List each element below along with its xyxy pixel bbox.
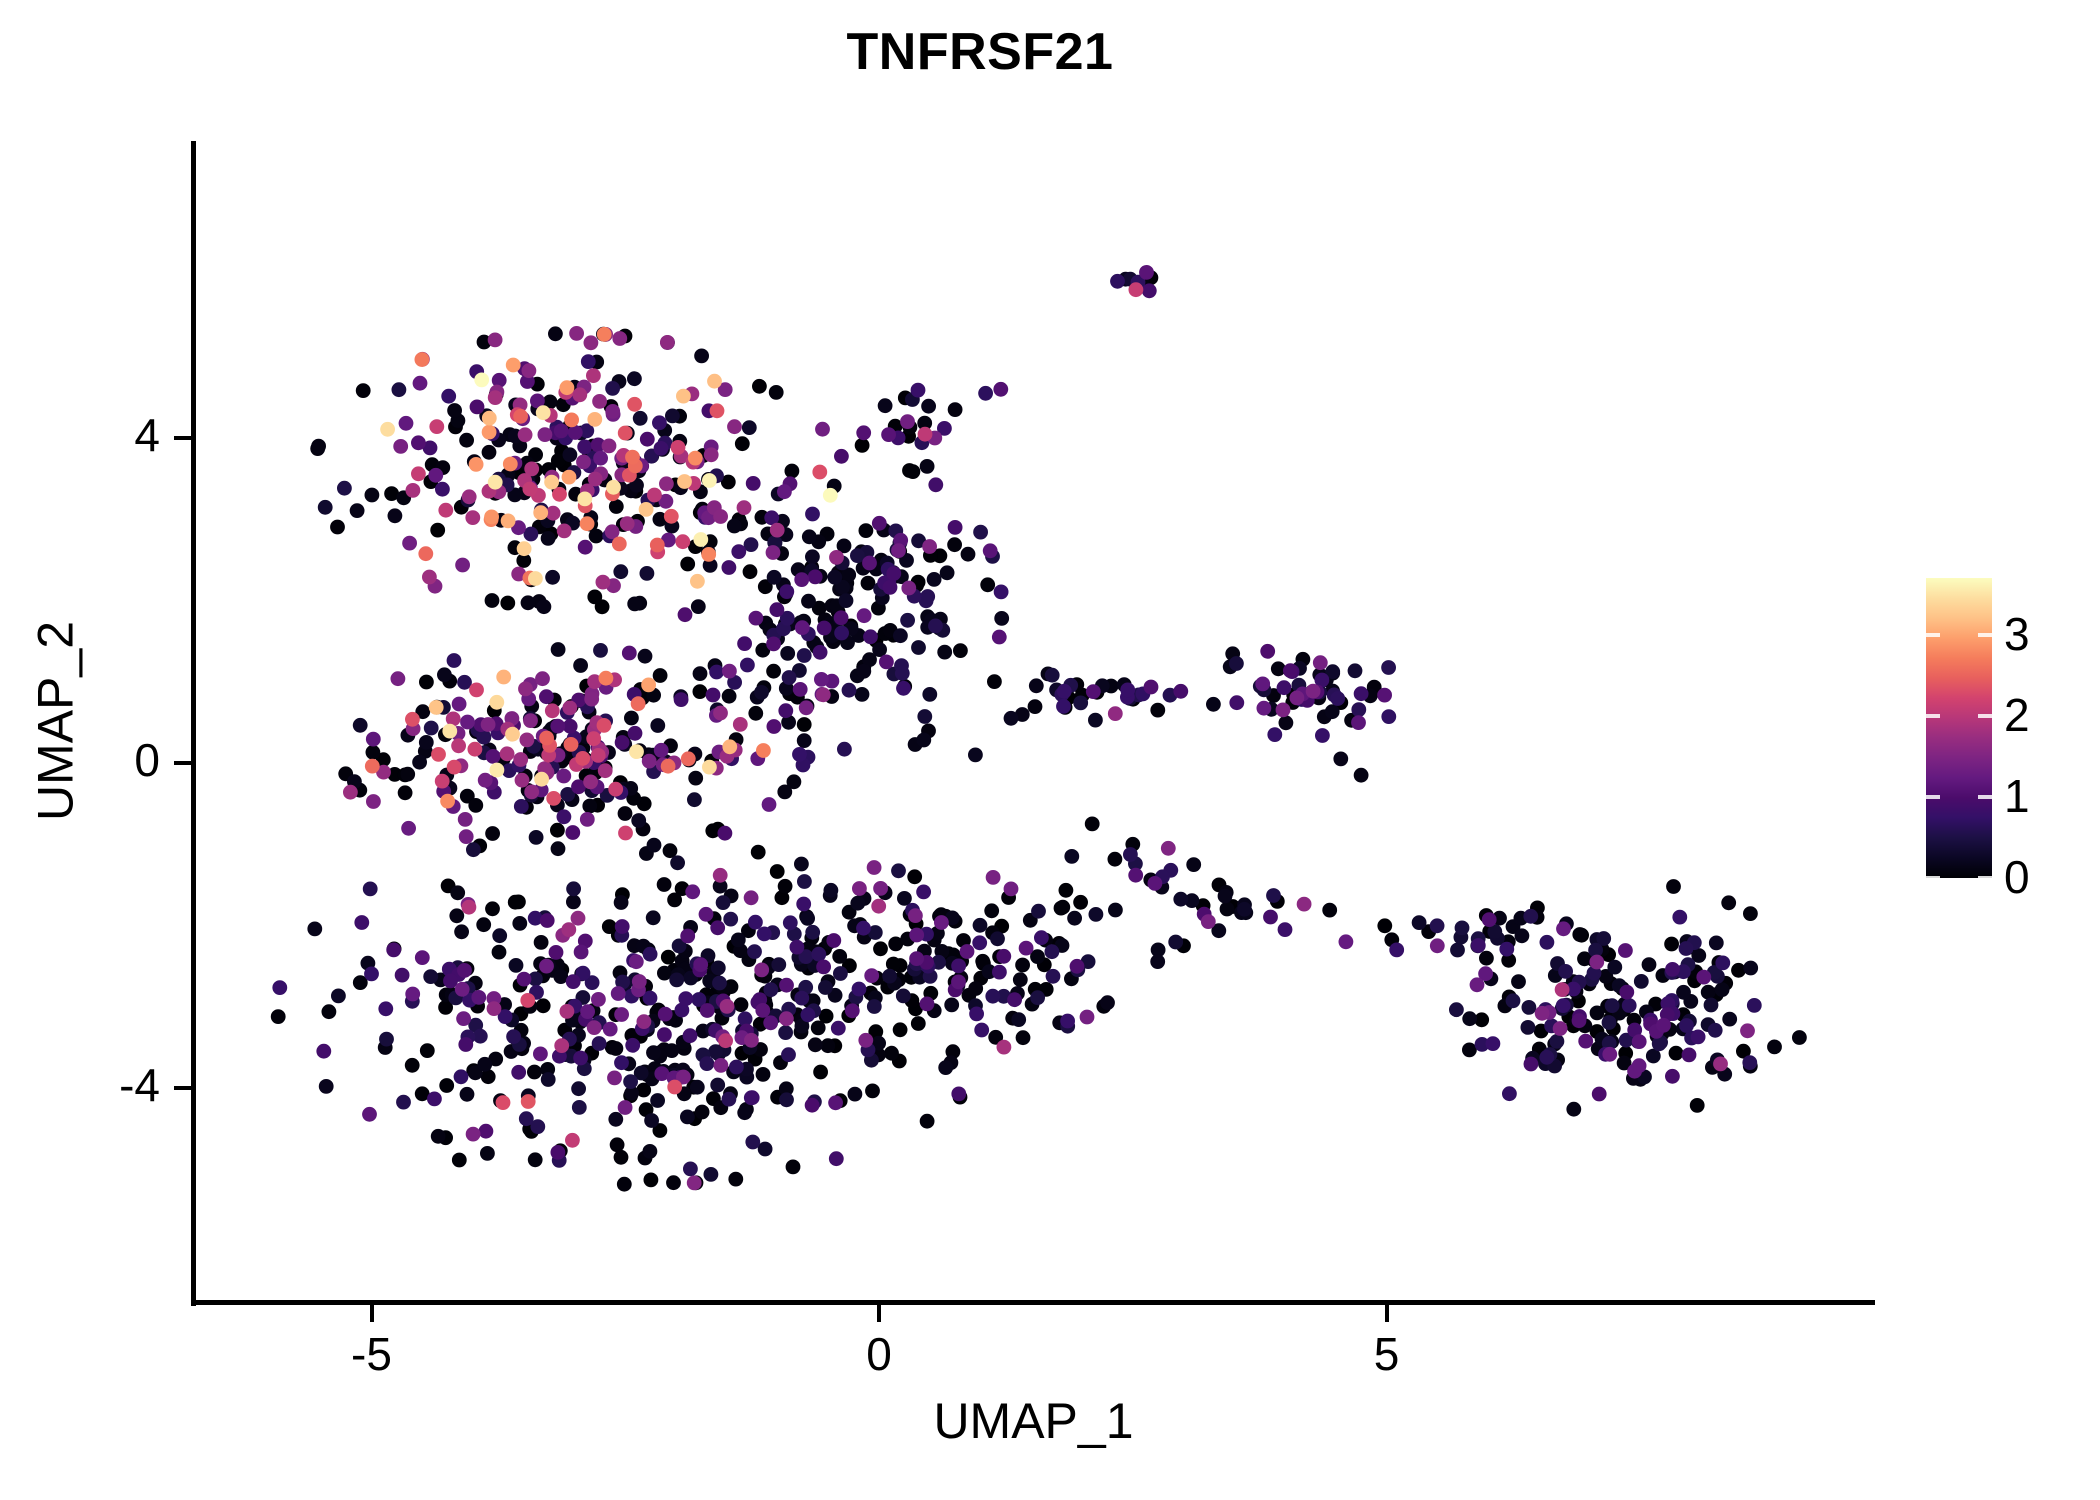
colorbar-tick-label: 0 [2004,850,2074,904]
colorbar-tick-mark [1978,876,1992,880]
x-tick-mark [1385,1305,1389,1322]
colorbar-tick-mark [1978,795,1992,799]
x-tick-label: 5 [1307,1327,1467,1381]
colorbar-tick-mark [1926,876,1940,880]
y-axis-line [191,141,196,1306]
colorbar-tick-label: 1 [2004,769,2074,823]
plot-panel [194,141,1873,1302]
x-tick-mark [877,1305,881,1322]
x-tick-mark [370,1305,374,1322]
colorbar-tick-label: 2 [2004,688,2074,742]
y-tick-mark [174,1086,191,1090]
y-axis-label: UMAP_2 [27,141,85,1302]
umap-feature-plot: TNFRSF21 -505 40-4 UMAP_1 UMAP_2 3210 [0,0,2100,1500]
y-tick-mark [174,761,191,765]
colorbar-tick-label: 3 [2004,607,2074,661]
colorbar-gradient [1926,578,1992,878]
colorbar-tick-mark [1978,714,1992,718]
x-tick-label: -5 [292,1327,452,1381]
x-axis-line [191,1300,1875,1305]
x-tick-label: 0 [799,1327,959,1381]
colorbar-tick-mark [1978,633,1992,637]
x-axis-label: UMAP_1 [194,1392,1873,1450]
y-tick-mark [174,436,191,440]
colorbar-tick-mark [1926,795,1940,799]
colorbar-legend: 3210 [1926,578,2076,908]
colorbar-tick-mark [1926,633,1940,637]
page-title: TNFRSF21 [0,22,1960,82]
colorbar-tick-mark [1926,714,1940,718]
